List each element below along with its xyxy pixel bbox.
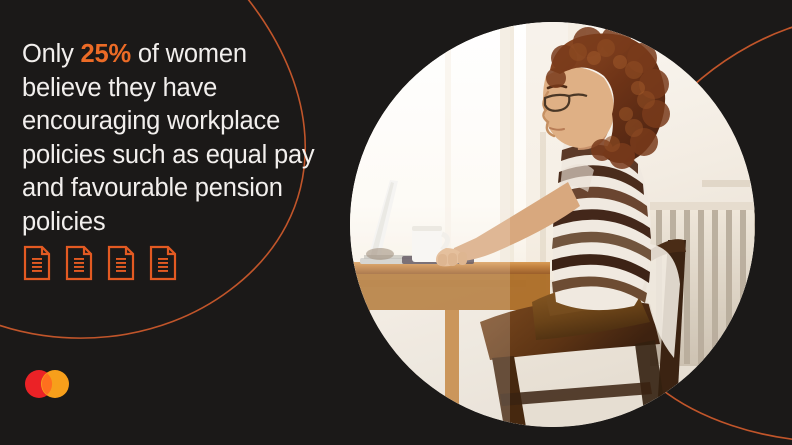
slide-canvas: Only 25% of women believe they have enco… <box>0 0 792 445</box>
bottom-right-arc <box>660 388 792 441</box>
headline: Only 25% of women believe they have enco… <box>22 38 332 239</box>
headline-accent-statistic: 25% <box>81 40 131 68</box>
headline-prefix: Only <box>22 40 81 68</box>
document-icon-3 <box>107 245 135 281</box>
document-icon-1 <box>23 245 51 281</box>
woman-working-laptop-photo <box>350 22 755 427</box>
mastercard-logo <box>22 368 72 400</box>
document-icon-4 <box>149 245 177 281</box>
headline-suffix: of women believe they have encouraging w… <box>22 40 314 236</box>
photo-artwork <box>350 22 755 427</box>
document-icon-2 <box>65 245 93 281</box>
document-icon-row <box>23 245 177 281</box>
